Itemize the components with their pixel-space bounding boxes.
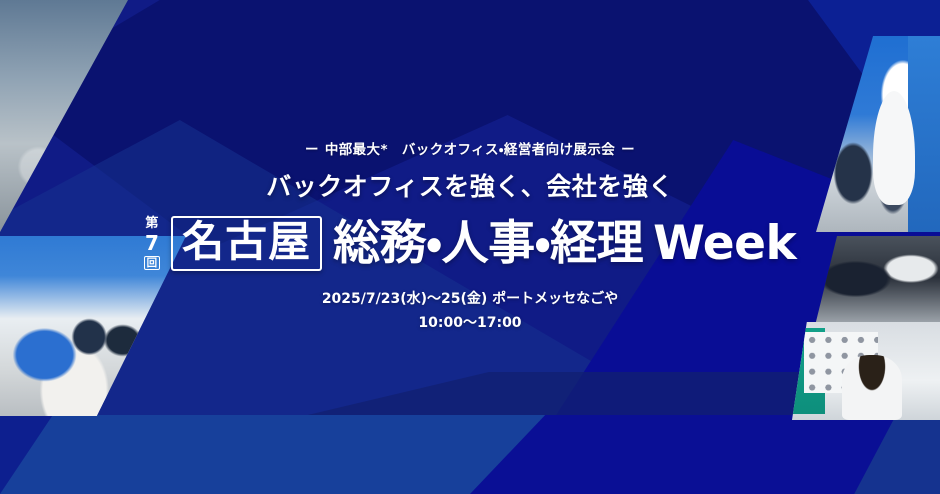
catchcopy: バックオフィスを強く、会社を強く: [266, 167, 674, 203]
ordinal-suffix: 回: [144, 256, 161, 271]
event-title-week: Week: [653, 216, 796, 271]
edition-ordinal: 第 7 回: [144, 217, 161, 271]
city-badge: 名古屋: [171, 216, 322, 271]
eyebrow-text: バックオフィス・経営者向け展示会: [402, 142, 615, 158]
eyebrow-lead: 中部最大*: [325, 142, 388, 158]
photo-right-bottom-image: 増加中: [792, 322, 940, 420]
event-title-jp: 総務・人事・経理: [333, 216, 643, 271]
title-row: 第 7 回 名古屋 総務・人事・経理Week: [144, 216, 797, 271]
eyebrow-dash-left: ー: [305, 142, 319, 158]
event-schedule: 2025/7/23(水)〜25(金) ポートメッセなごや 10:00〜17:00: [322, 287, 618, 336]
ordinal-prefix: 第: [145, 217, 158, 230]
opening-hours: 10:00〜17:00: [322, 311, 618, 336]
date-and-venue: 2025/7/23(水)〜25(金) ポートメッセなごや: [322, 287, 618, 312]
eyebrow-dash-right: ー: [621, 142, 635, 158]
ordinal-number: 7: [145, 233, 159, 253]
attendee-figure: [842, 355, 901, 420]
eyebrow-line: ー中部最大*バックオフィス・経営者向け展示会ー: [299, 138, 641, 158]
event-title: 総務・人事・経理Week: [333, 220, 796, 267]
event-banner: 増加中 ー中部最大*バックオフィス・経営者向け展示会ー バックオフィスを強く、会…: [0, 0, 940, 494]
photo-right-bottom: 増加中: [792, 322, 940, 420]
